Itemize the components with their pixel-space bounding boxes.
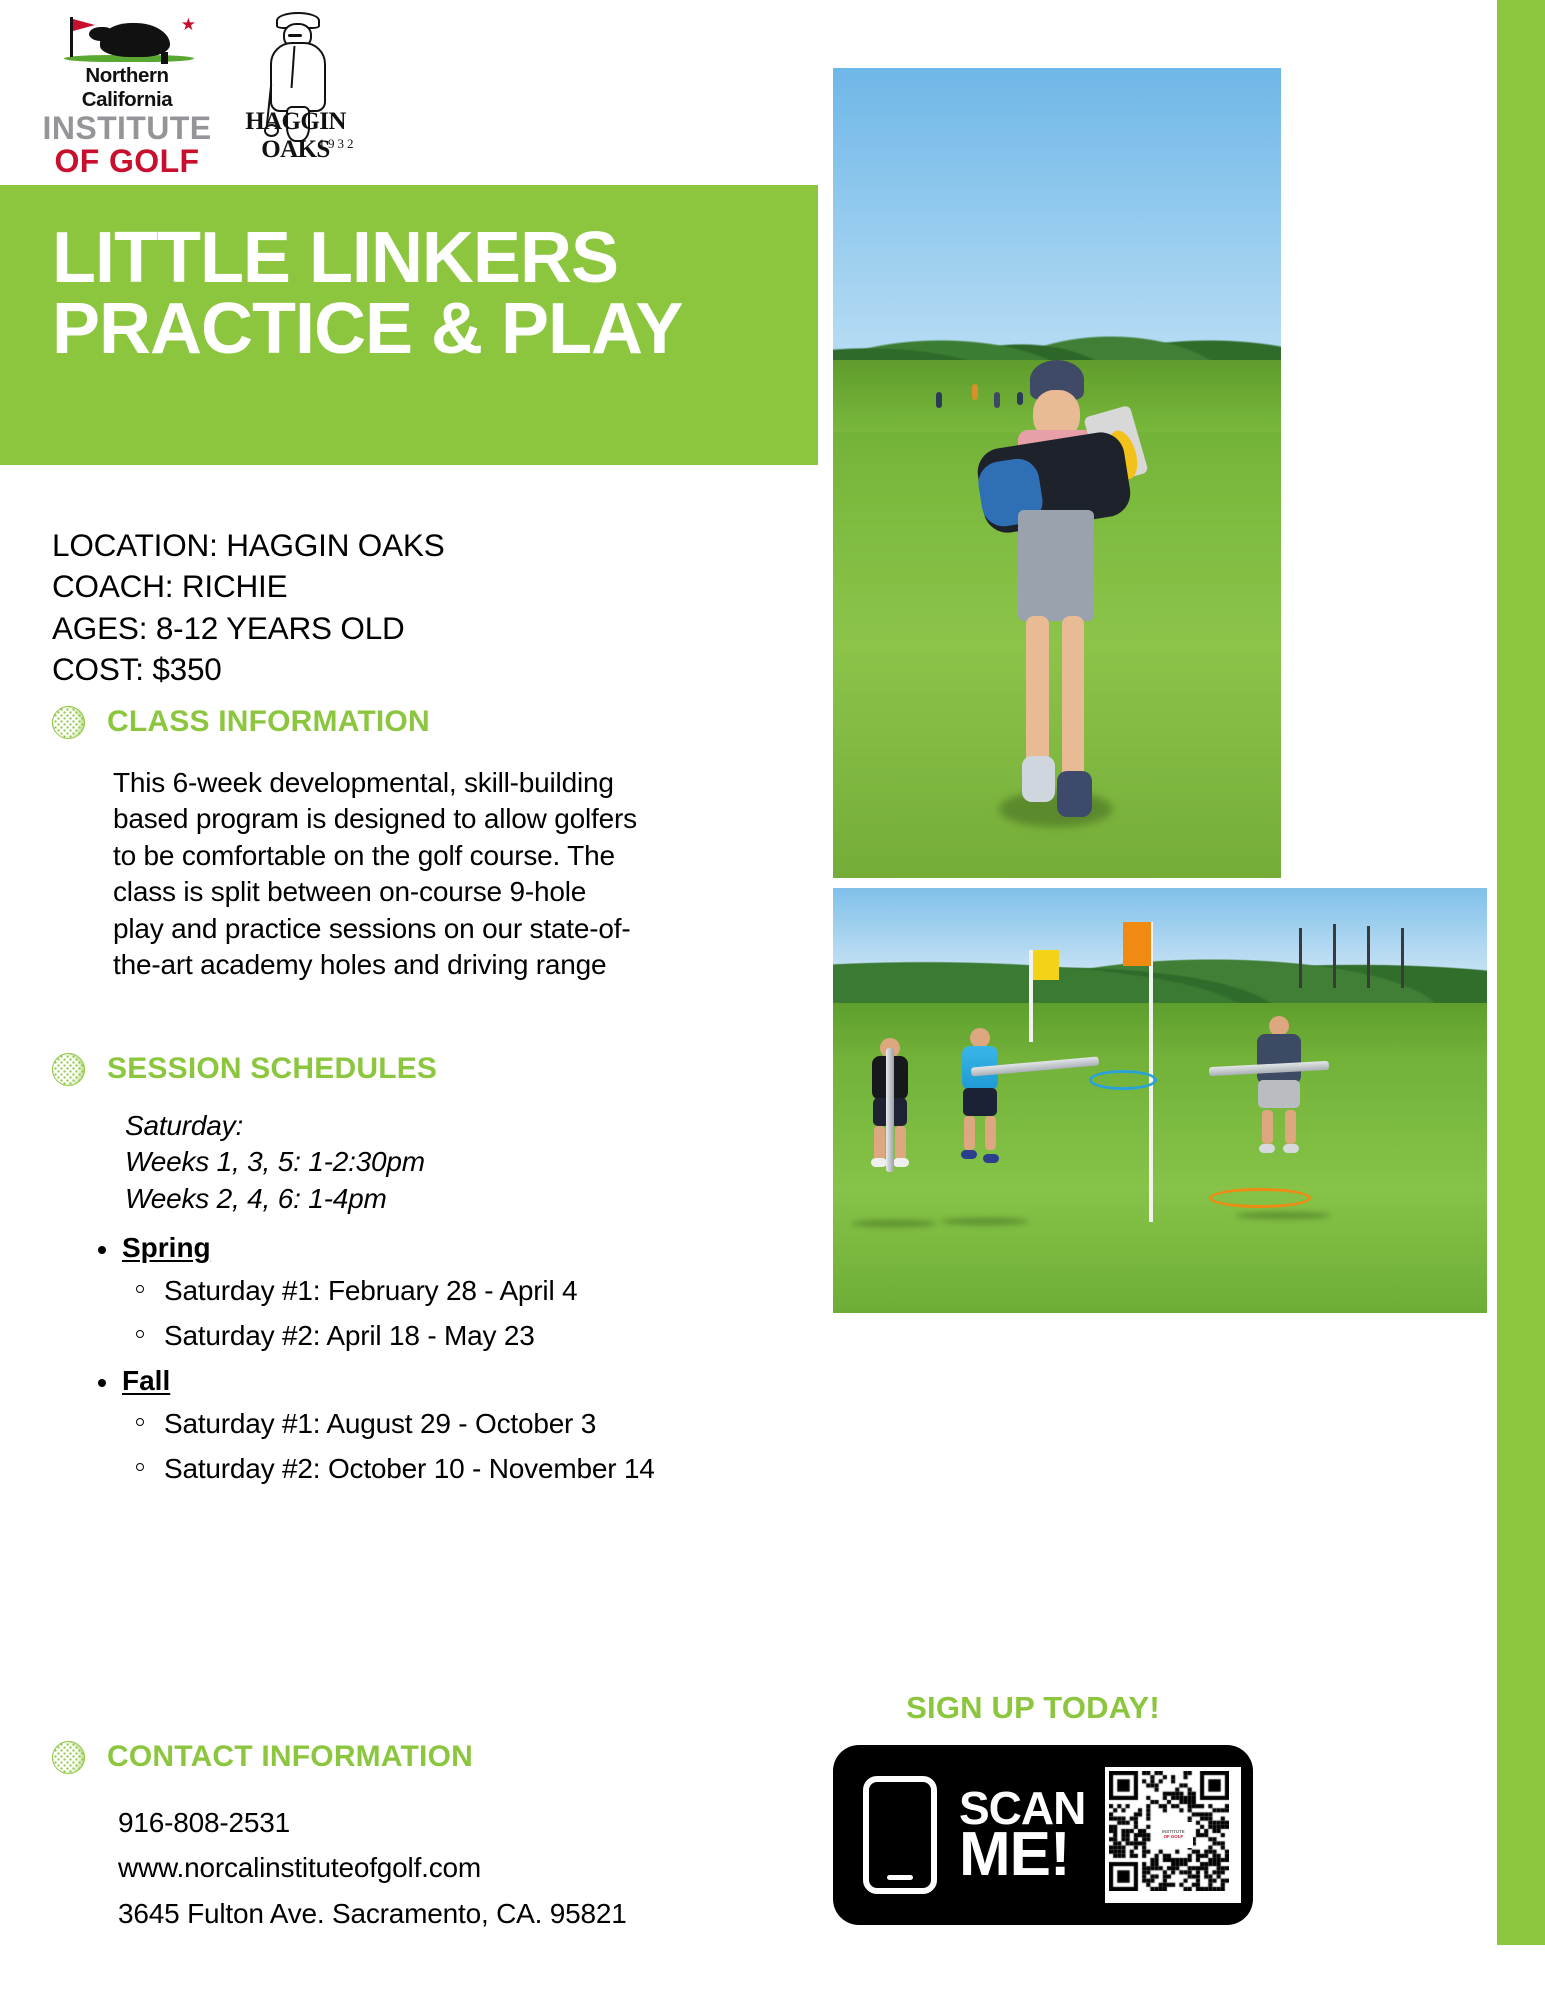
star-icon: ★ xyxy=(181,16,196,33)
photo-children-on-practice-green xyxy=(833,888,1487,1313)
qr-center-logo: INSTITUTE OF GOLF xyxy=(1153,1822,1193,1848)
spring-session-list: Saturday #1: February 28 - April 4 Satur… xyxy=(80,1268,655,1359)
contact-information-heading-row: CONTACT INFORMATION xyxy=(52,1740,473,1774)
list-item: Spring Saturday #1: February 28 - April … xyxy=(80,1232,655,1359)
golf-ball-icon xyxy=(52,706,85,739)
list-item: Fall Saturday #1: August 29 - October 3 … xyxy=(80,1365,655,1492)
program-details: LOCATION: HAGGIN OAKS COACH: RICHIE AGES… xyxy=(52,525,445,690)
session-day-label: Saturday: xyxy=(125,1108,425,1144)
list-item: Saturday #2: October 10 - November 14 xyxy=(80,1446,655,1491)
qr-code[interactable]: INSTITUTE OF GOLF xyxy=(1105,1767,1241,1903)
class-information-heading-row: CLASS INFORMATION xyxy=(52,705,430,739)
bear-flag-mark: ★ xyxy=(42,14,212,62)
session-times: Saturday: Weeks 1, 3, 5: 1-2:30pm Weeks … xyxy=(125,1108,425,1217)
child-figure xyxy=(1241,1016,1317,1226)
session-time-2: Weeks 2, 4, 6: 1-4pm xyxy=(125,1181,425,1217)
bear-icon xyxy=(100,23,170,57)
scan-text-line2: ME! xyxy=(959,1828,1085,1881)
scan-me-badge[interactable]: SCAN ME! INSTITUTE OF GOLF xyxy=(833,1745,1253,1925)
contact-details: 916-808-2531 www.norcalinstituteofgolf.c… xyxy=(118,1800,627,1936)
page-title: LITTLE LINKERS PRACTICE & PLAY xyxy=(0,185,818,366)
fall-session-list: Saturday #1: August 29 - October 3 Satur… xyxy=(80,1401,655,1492)
detail-location: LOCATION: HAGGIN OAKS xyxy=(52,525,445,566)
sign-up-call-to-action: SIGN UP TODAY! xyxy=(833,1690,1233,1726)
session-time-1: Weeks 1, 3, 5: 1-2:30pm xyxy=(125,1144,425,1180)
detail-cost: COST: $350 xyxy=(52,649,445,690)
list-item: Saturday #2: April 18 - May 23 xyxy=(80,1313,655,1358)
season-list: Spring Saturday #1: February 28 - April … xyxy=(80,1232,655,1497)
season-name-spring: Spring xyxy=(80,1232,655,1264)
detail-ages: AGES: 8-12 YEARS OLD xyxy=(52,608,445,649)
class-information-heading: CLASS INFORMATION xyxy=(107,705,430,739)
golf-ball-icon xyxy=(52,1741,85,1774)
contact-information-heading: CONTACT INFORMATION xyxy=(107,1740,473,1774)
golf-ball-icon xyxy=(52,1053,85,1086)
logo-line-institute: INSTITUTE xyxy=(42,112,212,145)
page-title-line2: PRACTICE & PLAY xyxy=(52,289,682,369)
session-schedules-heading: SESSION SCHEDULES xyxy=(107,1052,437,1086)
haggin-oaks-year: 1932 xyxy=(228,136,405,152)
detail-coach: COACH: RICHIE xyxy=(52,566,445,607)
qr-badge-line2: OF GOLF xyxy=(1164,1835,1184,1840)
list-item: Saturday #1: August 29 - October 3 xyxy=(80,1401,655,1446)
page-title-line1: LITTLE LINKERS xyxy=(52,218,618,298)
smartphone-icon xyxy=(863,1776,937,1894)
logo-line-northern-california: Northern California xyxy=(42,64,212,112)
contact-phone[interactable]: 916-808-2531 xyxy=(118,1800,627,1845)
right-green-accent-bar xyxy=(1497,0,1545,1945)
contact-website[interactable]: www.norcalinstituteofgolf.com xyxy=(118,1845,627,1890)
list-item: Saturday #1: February 28 - April 4 xyxy=(80,1268,655,1313)
contact-address: 3645 Fulton Ave. Sacramento, CA. 95821 xyxy=(118,1891,627,1936)
session-schedules-heading-row: SESSION SCHEDULES xyxy=(52,1052,437,1086)
child-figure xyxy=(976,360,1137,862)
season-name-fall: Fall xyxy=(80,1365,655,1397)
title-banner: LITTLE LINKERS PRACTICE & PLAY xyxy=(0,185,818,465)
photo-child-with-golf-bag xyxy=(833,68,1281,878)
scan-me-text: SCAN ME! xyxy=(959,1789,1085,1882)
child-figure xyxy=(945,1028,1015,1228)
class-information-body: This 6-week developmental, skill-buildin… xyxy=(113,765,643,983)
logo-line-of-golf: OF GOLF xyxy=(42,145,212,178)
child-figure xyxy=(855,1038,925,1228)
norcal-institute-of-golf-logo: ★ Northern California INSTITUTE OF GOLF xyxy=(42,14,212,154)
haggin-oaks-logo: HAGGIN OAKS 1932 xyxy=(228,10,363,160)
